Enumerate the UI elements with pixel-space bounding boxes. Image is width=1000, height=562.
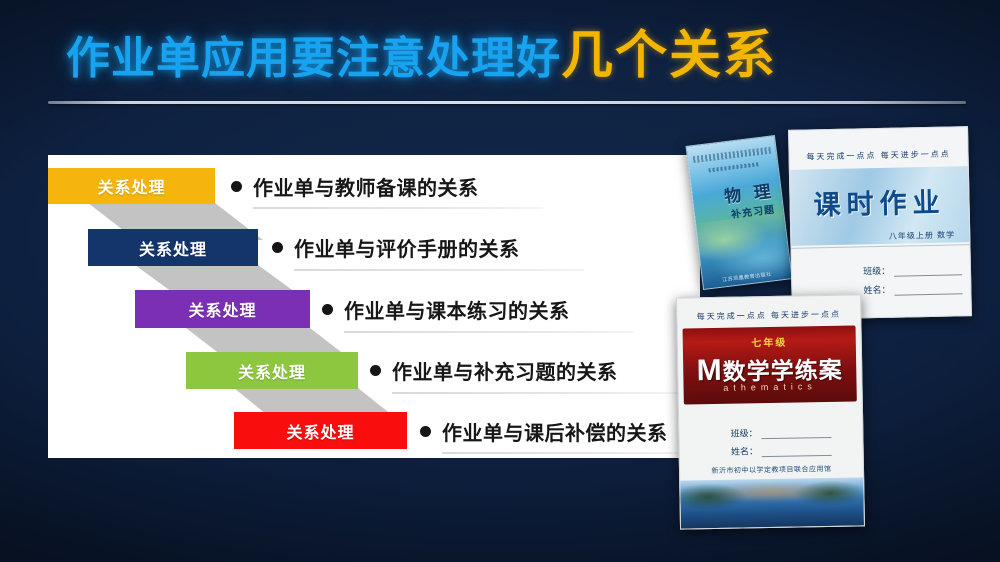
row-2-underline (294, 269, 584, 271)
row-1-tag: 关系处理 (48, 168, 215, 204)
row-3-tag-label: 关系处理 (188, 297, 256, 321)
homework-name-field: 姓名： (863, 281, 962, 296)
row-2-tag: 关系处理 (88, 229, 258, 266)
homework-title: 课时作业 (790, 180, 969, 223)
row-2-text: 作业单与评价手册的关系 (294, 233, 520, 262)
math-name-field: 姓名： (731, 443, 832, 458)
row-1-tag-label: 关系处理 (97, 174, 165, 198)
row-3-text: 作业单与课本练习的关系 (344, 295, 570, 324)
title-divider (48, 101, 966, 104)
bullet-dot-icon (272, 242, 283, 253)
physics-subheader-line (709, 163, 758, 173)
math-footer: 新沂市初中以学定教项目联合应用馆 (680, 463, 863, 476)
book-cover-homework: 每天完成一点点 每天进步一点点 课时作业 八年级上册 数学 班级： 姓名： (788, 126, 972, 320)
math-name-blank (762, 447, 832, 457)
row-5-text: 作业单与课后补偿的关系 (442, 417, 668, 446)
row-3-tag: 关系处理 (135, 290, 310, 328)
bullet-dot-icon (420, 426, 431, 437)
book-cover-math-practice: 每天完成一点点 每天进步一点点 七年级 M数学学练案 athematics 班级… (676, 294, 865, 529)
row-5-tag: 关系处理 (234, 412, 407, 449)
homework-class-field: 班级： (863, 263, 962, 278)
homework-name-label: 姓名： (863, 283, 890, 297)
bullet-dot-icon (231, 181, 242, 192)
math-class-field: 班级： (730, 425, 831, 440)
homework-class-label: 班级： (863, 264, 890, 278)
bullet-dot-icon (322, 304, 333, 315)
book-cover-physics: 物 理 补充习题 八年级 上册 江苏凤凰教育出版社 (685, 135, 792, 290)
row-1-bullet: 作业单与教师备课的关系 (231, 170, 479, 202)
slide-canvas: 作业单应用要注意处理好几个关系 关系处理 作业单与教师备课的关系 关系处理 作业… (0, 0, 1000, 562)
row-5-tag-label: 关系处理 (286, 419, 354, 443)
row-3-bullet: 作业单与课本练习的关系 (322, 293, 570, 326)
row-4-bullet: 作业单与补充习题的关系 (370, 354, 618, 387)
row-4-tag: 关系处理 (186, 352, 358, 389)
homework-name-blank (895, 285, 963, 295)
physics-header-line (693, 147, 771, 163)
homework-grade: 八年级上册 数学 (889, 229, 955, 241)
math-grade: 七年级 (678, 332, 861, 350)
row-4-underline (392, 392, 682, 394)
math-slogan: 每天完成一点点 每天进步一点点 (677, 308, 860, 322)
row-2-tag-label: 关系处理 (139, 236, 207, 260)
math-class-label: 班级： (730, 426, 757, 439)
row-5-bullet: 作业单与课后补偿的关系 (420, 414, 668, 448)
row-4-tag-label: 关系处理 (238, 359, 306, 383)
math-cover-photo (680, 477, 864, 528)
row-5-underline (442, 452, 692, 454)
homework-slogan: 每天完成一点点 每天进步一点点 (789, 148, 967, 163)
row-1-underline (253, 207, 543, 209)
row-4-text: 作业单与补充习题的关系 (392, 356, 618, 385)
homework-class-blank (894, 267, 962, 277)
page-title-accent: 几个关系 (561, 27, 777, 85)
math-class-blank (762, 429, 832, 439)
row-2-bullet: 作业单与评价手册的关系 (272, 231, 520, 264)
row-3-underline (344, 331, 634, 333)
row-1-text: 作业单与教师备课的关系 (253, 172, 479, 201)
bullet-dot-icon (370, 365, 381, 376)
page-title: 作业单应用要注意处理好几个关系 (66, 30, 777, 82)
page-title-main: 作业单应用要注意处理好 (66, 34, 561, 83)
math-name-label: 姓名： (731, 444, 758, 457)
